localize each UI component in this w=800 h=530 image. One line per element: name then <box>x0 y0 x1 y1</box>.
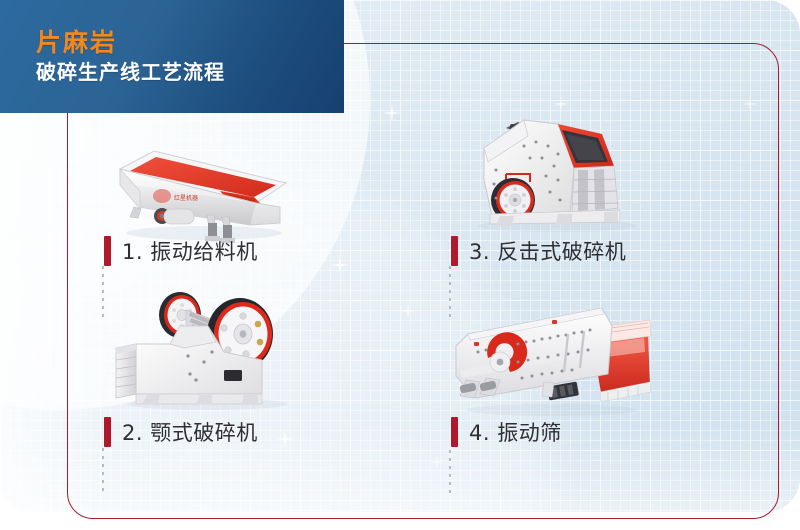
flow-connector-left-lower <box>102 448 104 494</box>
page-title: 片麻岩 <box>36 29 344 58</box>
flow-label-2-text: 2. 颚式破碎机 <box>122 417 258 447</box>
vibrating-feeder-image: 红星机器 <box>104 133 294 243</box>
title-block: 片麻岩 破碎生产线工艺流程 <box>0 0 344 113</box>
svg-text:红星机器: 红星机器 <box>174 194 198 202</box>
label-accent-bar <box>451 236 458 266</box>
flow-label-4-text: 4. 振动筛 <box>469 417 562 447</box>
flow-label-3: 3. 反击式破碎机 <box>451 236 626 266</box>
flow-label-1-text: 1. 振动给料机 <box>122 236 258 266</box>
flow-connector-right <box>449 266 451 318</box>
flow-label-4: 4. 振动筛 <box>451 417 562 447</box>
flow-label-1: 1. 振动给料机 <box>104 236 258 266</box>
label-accent-bar <box>451 417 458 447</box>
flow-label-2: 2. 颚式破碎机 <box>104 417 258 447</box>
flow-connector-left <box>102 266 104 322</box>
poster-canvas: 红星机器 <box>0 0 800 530</box>
vibrating-screen-image <box>452 300 652 418</box>
jaw-crusher-image <box>112 282 297 412</box>
flow-label-3-text: 3. 反击式破碎机 <box>469 236 626 266</box>
page-subtitle: 破碎生产线工艺流程 <box>36 61 344 84</box>
impact-crusher-image <box>462 110 647 232</box>
label-accent-bar <box>104 417 111 447</box>
flow-connector-right-lower <box>449 450 451 494</box>
label-accent-bar <box>104 236 111 266</box>
